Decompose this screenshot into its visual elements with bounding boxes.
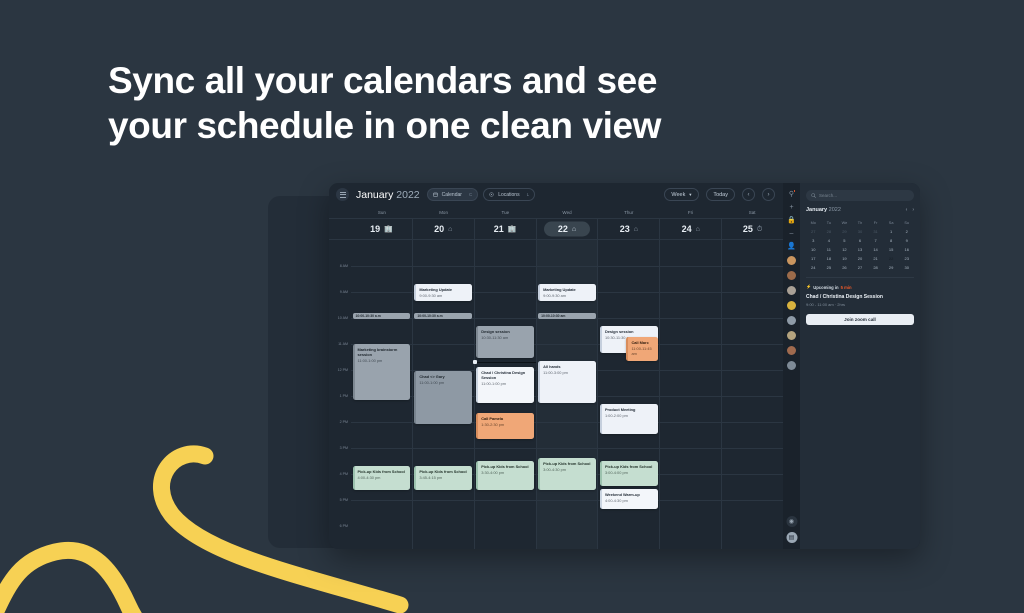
view-select[interactable]: Week ▼ — [664, 188, 699, 201]
date-number: 19 — [370, 224, 380, 234]
date-number: 22 — [558, 224, 568, 234]
search-icon — [811, 193, 816, 198]
mini-day-number: 11 — [827, 247, 831, 252]
headline-line-2: your schedule in one clean view — [108, 103, 748, 148]
event-title: Marketing brainstorm session — [358, 347, 408, 357]
upcoming-countdown: 5 min — [841, 285, 852, 290]
bolt-icon: ⚡ — [806, 284, 811, 290]
date-cell-25[interactable]: 25 ⏱ — [721, 219, 783, 239]
mini-day-number: 26 — [842, 265, 846, 270]
locations-chip-shortcut: L — [527, 192, 530, 197]
avatar[interactable] — [787, 286, 796, 295]
day-columns: 10:00-10:30 a.m Marketing brainstorm ses… — [351, 240, 783, 549]
hamburger-icon[interactable] — [336, 188, 349, 201]
day-column-sat[interactable] — [721, 240, 783, 549]
event-title: Product Meeting — [605, 407, 655, 412]
mini-weekday: Sa — [884, 219, 899, 226]
event-time: 4:00-4:30 pm — [358, 475, 408, 480]
event-title: Pick-up Kids from School — [543, 461, 593, 466]
mini-next-month-button[interactable]: › — [912, 207, 914, 213]
calendar-main: January 2022 Calendar C — [329, 183, 783, 549]
search-input[interactable]: Search... — [806, 190, 914, 201]
settings-icon[interactable]: ◉ — [786, 516, 797, 527]
event-time: 9:00-9:30 am — [419, 293, 469, 298]
week-grid: 8 AM 9 AM 10 AM 11 AM 12 PM 1 PM 2 PM 3 … — [329, 240, 783, 549]
event-time: 3:00-4:00 pm — [605, 470, 655, 475]
event-block[interactable]: Pick-up Kids from School 3:00-4:30 pm — [538, 458, 596, 490]
mini-prev-month-button[interactable]: ‹ — [906, 207, 908, 213]
home-icon: ⌂ — [696, 226, 700, 233]
mini-calendar-day[interactable]: 14 — [868, 245, 883, 253]
mini-year-label: 2022 — [829, 207, 841, 213]
right-panel: Search... January 2022 ‹ › Mo Tu We Th F… — [800, 183, 920, 549]
mini-day-number: 22 — [889, 256, 893, 261]
year-label: 2022 — [396, 189, 419, 201]
event-time: 11:00-3:00 pm — [543, 370, 593, 375]
weekday-label: Sun — [351, 206, 413, 218]
minus-icon[interactable]: – — [790, 230, 794, 237]
month-label: January — [356, 189, 393, 201]
avatar[interactable] — [787, 361, 796, 370]
mini-calendar-day[interactable]: 29 — [884, 263, 899, 271]
event-chip[interactable]: 10:00-10:30 am — [538, 313, 596, 319]
mini-calendar-day[interactable]: 8 — [884, 236, 899, 244]
lock-icon[interactable]: 🔒 — [787, 217, 796, 224]
search-placeholder: Search... — [819, 193, 837, 198]
mini-calendar-day[interactable]: 27 — [853, 263, 868, 271]
time-label: 10 AM — [338, 316, 348, 320]
event-chip[interactable]: 10:00-10:30 a.m — [353, 313, 411, 319]
event-time: 3:45-4:15 pm — [419, 475, 469, 480]
event-title: Call Marc — [631, 340, 654, 345]
event-title: Call Pamela — [481, 416, 531, 421]
event-block[interactable]: Chad / Christina Design Session 11:00-1:… — [476, 367, 534, 403]
event-title: Design session — [605, 329, 655, 334]
mini-day-number: 8 — [890, 238, 892, 243]
event-block[interactable]: Product Meeting 1:00-2:00 pm — [600, 404, 658, 434]
weekday-label: Fri — [660, 206, 722, 218]
upcoming-subtitle: 9:00 - 11:00 am · 2hrs — [806, 302, 914, 307]
month-title: January 2022 — [356, 189, 420, 201]
event-chip[interactable]: 10:00-10:30 a.m — [414, 313, 472, 319]
mini-calendar-day[interactable]: 5 — [837, 236, 852, 244]
mini-day-number: 15 — [889, 247, 893, 252]
time-label: 8 AM — [340, 264, 348, 268]
date-cell-22-today[interactable]: 22 ⌂ — [536, 219, 598, 239]
mini-calendar-day[interactable]: 29 — [837, 227, 852, 235]
today-button[interactable]: Today — [706, 188, 735, 201]
weekday-header-row: Sun Mon Tue Wed Thur Fri Sat — [329, 206, 783, 218]
mini-calendar-day[interactable]: 28 — [868, 263, 883, 271]
mini-day-number: 21 — [873, 256, 877, 261]
mini-weekday: Th — [853, 219, 868, 226]
mini-calendar-day[interactable]: 4 — [822, 236, 837, 244]
calendar-chip-label: Calendar — [442, 192, 462, 198]
mini-day-number: 7 — [874, 238, 876, 243]
day-column-fri[interactable] — [659, 240, 721, 549]
event-time: 10:30-11:30 am — [481, 335, 531, 340]
time-label: 6 PM — [340, 524, 348, 528]
day-column-sun[interactable]: 10:00-10:30 a.m Marketing brainstorm ses… — [351, 240, 412, 549]
mini-day-number: 24 — [811, 265, 815, 270]
mini-calendar-day[interactable]: 26 — [837, 263, 852, 271]
right-rail: ⚲ + 🔒 – 👤 ◉ ▤ — [783, 183, 800, 549]
mini-weekday: Mo — [806, 219, 821, 226]
mini-day-number: 16 — [904, 247, 908, 252]
date-cell-23[interactable]: 23 ⌂ — [597, 219, 659, 239]
mini-calendar-day[interactable]: 2 — [899, 227, 914, 235]
mini-day-number: 17 — [811, 256, 815, 261]
mini-calendar-day[interactable]: 9 — [899, 236, 914, 244]
weekday-label: Wed — [536, 206, 598, 218]
event-block[interactable]: Pick-up Kids from School 3:00-4:00 pm — [600, 461, 658, 486]
add-person-icon[interactable]: 👤 — [787, 243, 796, 250]
mini-calendar-day[interactable]: 24 — [806, 263, 821, 271]
upcoming-event-card: ⚡ Upcoming in 5 min Chad / Christina Des… — [806, 277, 914, 325]
event-time: 11:00-1:00 pm — [358, 358, 408, 363]
avatar[interactable] — [787, 256, 796, 265]
mini-calendar-day[interactable]: 13 — [853, 245, 868, 253]
mini-calendar-day[interactable]: 31 — [868, 227, 883, 235]
time-label: 3 PM — [340, 446, 348, 450]
upcoming-prefix: Upcoming in — [813, 285, 838, 290]
upcoming-title: Chad / Christina Design Session — [806, 294, 914, 300]
event-block[interactable]: Pick-up Kids from School 3:45-4:15 pm — [414, 466, 472, 490]
mini-day-number: 29 — [842, 229, 846, 234]
current-time-indicator — [475, 362, 536, 363]
home-icon: ⌂ — [572, 226, 576, 233]
event-title: Marketing Update — [419, 287, 469, 292]
mini-calendar-day[interactable]: 23 — [899, 254, 914, 262]
event-block[interactable]: Marketing brainstorm session 11:00-1:00 … — [353, 344, 411, 400]
event-title: All hands — [543, 364, 593, 369]
event-title: Pick-up Kids from School — [481, 464, 531, 469]
prev-week-button[interactable]: ‹ — [742, 188, 755, 201]
event-time: 1:00-2:00 pm — [605, 413, 655, 418]
event-time: 3:30-4:00 pm — [481, 470, 531, 475]
chevron-down-icon: ▼ — [688, 192, 692, 197]
event-block[interactable]: Call Pamela 1:30-2:30 pm — [476, 413, 534, 439]
event-block[interactable]: All hands 11:00-3:00 pm — [538, 361, 596, 403]
avatar[interactable] — [787, 346, 796, 355]
mini-day-number: 27 — [858, 265, 862, 270]
event-block[interactable]: Weekend Warm-up 4:00-4:30 pm — [600, 489, 658, 509]
date-cell-19[interactable]: 19 🏢 — [351, 219, 412, 239]
date-cell-20[interactable]: 20 ⌂ — [412, 219, 474, 239]
day-column-wed-today[interactable]: Marketing Update 9:00-9:30 am 10:00-10:3… — [536, 240, 598, 549]
date-number: 23 — [620, 224, 630, 234]
avatar[interactable] — [787, 301, 796, 310]
calendar-icon — [433, 192, 438, 197]
mini-calendar-day[interactable]: 27 — [806, 227, 821, 235]
mini-day-number: 4 — [828, 238, 830, 243]
inbox-icon[interactable]: ▤ — [786, 532, 797, 543]
time-label: 2 PM — [340, 420, 348, 424]
day-column-mon[interactable]: Marketing Update 9:00-9:30 am 10:00-10:3… — [412, 240, 474, 549]
mini-day-number: 31 — [873, 229, 877, 234]
location-icon — [489, 192, 494, 197]
notification-badge — [793, 189, 797, 193]
time-axis: 8 AM 9 AM 10 AM 11 AM 12 PM 1 PM 2 PM 3 … — [329, 240, 351, 549]
mini-weekday: Fr — [868, 219, 883, 226]
mini-day-number: 3 — [812, 238, 814, 243]
weekday-label: Sat — [721, 206, 783, 218]
mini-weekday: Su — [899, 219, 914, 226]
mini-day-number: 10 — [811, 247, 815, 252]
mini-calendar-grid: Mo Tu We Th Fr Sa Su 2728293031123456789… — [806, 219, 914, 271]
mini-day-number: 13 — [858, 247, 862, 252]
date-number: 20 — [434, 224, 444, 234]
notifications-icon[interactable]: ⚲ — [789, 191, 794, 198]
mini-calendar-day[interactable]: 3 — [806, 236, 821, 244]
event-block[interactable]: Pick-up Kids from School 3:30-4:00 pm — [476, 461, 534, 490]
upcoming-label: ⚡ Upcoming in 5 min — [806, 284, 914, 290]
event-block[interactable]: Marketing Update 9:00-9:30 am — [414, 284, 472, 301]
day-column-tue[interactable]: Design session 10:30-11:30 am Chad / Chr… — [474, 240, 536, 549]
mini-day-number: 14 — [873, 247, 877, 252]
mini-day-number: 29 — [889, 265, 893, 270]
mini-day-number: 30 — [904, 265, 908, 270]
time-label: 11 AM — [338, 342, 348, 346]
weekday-label: Thur — [598, 206, 660, 218]
event-time: 9:00-9:30 am — [543, 293, 593, 298]
avatar[interactable] — [787, 271, 796, 280]
calendar-app-window: January 2022 Calendar C — [329, 183, 920, 549]
headline-line-1: Sync all your calendars and see — [108, 58, 748, 103]
mini-day-number: 28 — [873, 265, 877, 270]
calendar-filter-chip[interactable]: Calendar C — [427, 188, 479, 201]
event-block[interactable]: Chad <> Gary 11:00-1:00 pm — [414, 371, 472, 424]
mini-day-number: 25 — [827, 265, 831, 270]
date-cell-24[interactable]: 24 ⌂ — [659, 219, 721, 239]
event-time: 4:00-4:30 pm — [605, 498, 655, 503]
home-icon: ⌂ — [448, 226, 452, 233]
mini-day-number: 28 — [827, 229, 831, 234]
mini-day-number: 6 — [859, 238, 861, 243]
event-title: Chad <> Gary — [419, 374, 469, 379]
mini-calendar-day[interactable]: 21 — [868, 254, 883, 262]
mini-calendar-day[interactable]: 20 — [853, 254, 868, 262]
mini-day-number: 12 — [842, 247, 846, 252]
event-title: Pick-up Kids from School — [605, 464, 655, 469]
mini-month-label: January — [806, 207, 827, 213]
date-number: 21 — [494, 224, 504, 234]
mini-calendar-day[interactable]: 18 — [822, 254, 837, 262]
date-cell-21[interactable]: 21 🏢 — [474, 219, 536, 239]
mini-day-number: 9 — [906, 238, 908, 243]
weekday-label: Tue — [474, 206, 536, 218]
event-time: 11:00-1:00 pm — [481, 381, 531, 386]
event-block[interactable]: Marketing Update 9:00-9:30 am — [538, 284, 596, 301]
date-number: 24 — [682, 224, 692, 234]
day-column-thu[interactable]: Design session 10:30-11:30 am Call Marc … — [597, 240, 659, 549]
mini-calendar-day[interactable]: 19 — [837, 254, 852, 262]
mini-calendar-day[interactable]: 15 — [884, 245, 899, 253]
event-time: 11:00-1:00 pm — [419, 380, 469, 385]
mini-calendar-day[interactable]: 11 — [822, 245, 837, 253]
time-label: 9 AM — [340, 290, 348, 294]
event-title: Chad / Christina Design Session — [481, 370, 531, 380]
mini-calendar-header: January 2022 ‹ › — [806, 207, 914, 213]
mini-day-number: 5 — [843, 238, 845, 243]
time-label: 5 PM — [340, 498, 348, 502]
add-icon[interactable]: + — [789, 204, 793, 211]
mini-day-number: 23 — [904, 256, 908, 261]
weekday-label: Mon — [413, 206, 475, 218]
mini-day-number: 27 — [811, 229, 815, 234]
event-title: Pick-up Kids from School — [419, 469, 469, 474]
mini-weekday: We — [837, 219, 852, 226]
event-block[interactable]: Call Marc 11:00-11:45 am — [626, 337, 657, 361]
event-block[interactable]: Pick-up Kids from School 4:00-4:30 pm — [353, 466, 411, 490]
join-button-label: Join zoom call — [844, 317, 876, 322]
mini-calendar-day[interactable]: 12 — [837, 245, 852, 253]
clock-icon: ⏱ — [757, 226, 762, 233]
locations-filter-chip[interactable]: Locations L — [483, 188, 535, 201]
mini-calendar-day[interactable]: 6 — [853, 236, 868, 244]
office-icon: 🏢 — [508, 226, 517, 233]
mini-day-number: 2 — [906, 229, 908, 234]
mini-calendar-day[interactable]: 30 — [899, 263, 914, 271]
avatar[interactable] — [787, 331, 796, 340]
mini-calendar-day[interactable]: 17 — [806, 254, 821, 262]
page-title: Sync all your calendars and see your sch… — [108, 58, 748, 148]
mini-day-number: 19 — [842, 256, 846, 261]
date-number: 25 — [743, 224, 753, 234]
office-icon: 🏢 — [384, 226, 393, 233]
time-label: 4 PM — [340, 472, 348, 476]
mini-day-number: 18 — [827, 256, 831, 261]
event-block[interactable]: Design session 10:30-11:30 am — [476, 326, 534, 358]
view-select-label: Week — [671, 192, 685, 198]
mini-calendar-day[interactable]: 10 — [806, 245, 821, 253]
today-button-label: Today — [713, 192, 728, 198]
mini-calendar-day[interactable]: 16 — [899, 245, 914, 253]
event-time: 3:00-4:30 pm — [543, 467, 593, 472]
event-title: Weekend Warm-up — [605, 492, 655, 497]
mini-day-number: 20 — [858, 256, 862, 261]
avatar[interactable] — [787, 316, 796, 325]
calendar-chip-shortcut: C — [469, 192, 472, 197]
mini-day-number: 30 — [858, 229, 862, 234]
mini-calendar-day[interactable]: 30 — [853, 227, 868, 235]
event-title: Pick-up Kids from School — [358, 469, 408, 474]
mini-day-number: 1 — [890, 229, 892, 234]
date-header-row: 19 🏢 20 ⌂ 21 🏢 22 ⌂ 23 ⌂ — [329, 218, 783, 240]
event-title: Marketing Update — [543, 287, 593, 292]
mini-calendar-day[interactable]: 25 — [822, 263, 837, 271]
event-time: 11:00-11:45 am — [631, 346, 654, 356]
app-toolbar: January 2022 Calendar C — [329, 183, 783, 206]
event-title: Design session — [481, 329, 531, 334]
locations-chip-label: Locations — [498, 192, 519, 198]
mini-calendar-day[interactable]: 7 — [868, 236, 883, 244]
event-time: 1:30-2:30 pm — [481, 422, 531, 427]
home-icon: ⌂ — [634, 226, 638, 233]
mini-calendar-day[interactable]: 1 — [884, 227, 899, 235]
next-week-button[interactable]: › — [762, 188, 775, 201]
join-zoom-call-button[interactable]: Join zoom call — [806, 314, 914, 325]
time-label: 12 PM — [338, 368, 348, 372]
mini-calendar-day[interactable]: 22 — [884, 254, 899, 262]
mini-calendar-day[interactable]: 28 — [822, 227, 837, 235]
mini-weekday: Tu — [822, 219, 837, 226]
time-label: 1 PM — [340, 394, 348, 398]
